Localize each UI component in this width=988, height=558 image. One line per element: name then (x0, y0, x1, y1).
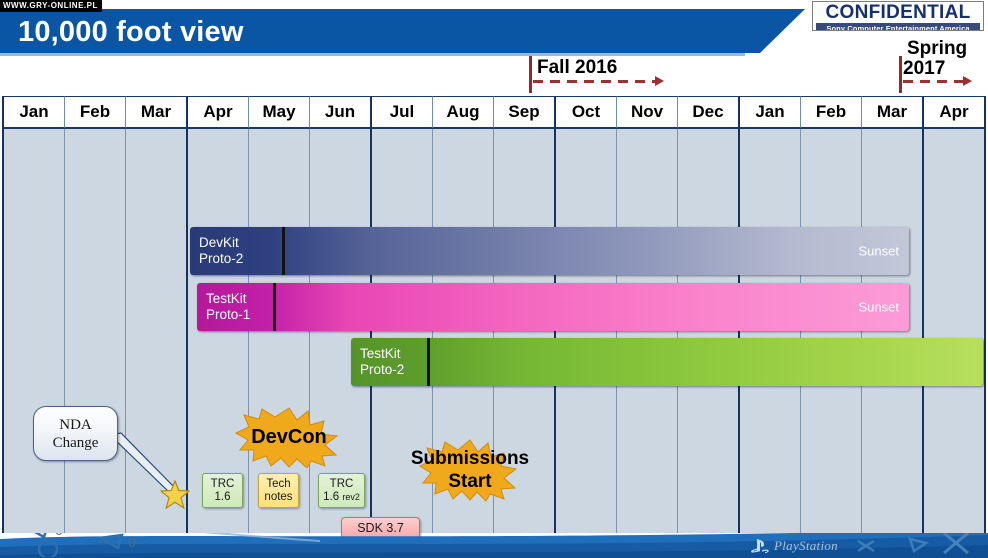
title-underline (0, 53, 745, 56)
nda-callout-line1: NDA (59, 416, 92, 434)
month-cell-nov-10: Nov (616, 96, 677, 129)
season-tick-fall (529, 56, 532, 93)
chip-trc-1-6-rev2-line1: TRC (330, 478, 354, 491)
confidential-sublabel: Sony Computer Entertainment America (816, 23, 980, 31)
grid-column-jan-0 (2, 129, 64, 533)
timeline-bar-devkit-divider (282, 227, 285, 275)
nda-change-callout[interactable]: NDA Change (33, 406, 118, 461)
devcon-label: DevCon (234, 406, 344, 468)
nda-callout-line2: Change (53, 434, 99, 452)
month-cell-dec-11: Dec (677, 96, 738, 129)
grid-column-dec-11 (677, 129, 738, 533)
timeline-bar-testkit2-label-line2: Proto-2 (360, 362, 404, 378)
timeline-bar-testkit1-divider (273, 283, 276, 331)
month-cell-feb-1: Feb (64, 96, 125, 129)
month-cell-sep-8: Sep (493, 96, 554, 129)
grid-column-feb-13 (800, 129, 861, 533)
month-cell-jan-12: Jan (738, 96, 800, 129)
season-arrow-line-spring (903, 80, 965, 83)
timeline-bar-testkit-proto-2[interactable]: TestKit Proto-2 (351, 338, 983, 386)
chip-trc-1-6-rev2-line2: 1.6 rev2 (323, 491, 360, 504)
confidential-label: CONFIDENTIAL (813, 2, 983, 22)
milestone-burst-submissions-start[interactable]: Submissions Start (418, 438, 522, 502)
nda-milestone-star-icon (160, 480, 190, 510)
chip-tech-notes[interactable]: Tech notes (258, 473, 299, 508)
month-cell-apr-3: Apr (186, 96, 248, 129)
month-cell-mar-14: Mar (861, 96, 922, 129)
svg-text:0: 0 (55, 533, 63, 538)
site-watermark: WWW.GRY-ONLINE.PL (0, 0, 102, 12)
milestone-burst-devcon[interactable]: DevCon (234, 406, 344, 468)
svg-text:0: 0 (128, 534, 136, 550)
month-cell-jun-5: Jun (309, 96, 370, 129)
month-cell-oct-9: Oct (554, 96, 616, 129)
month-cell-jan-0: Jan (2, 96, 64, 129)
timeline-bar-devkit-label: DevKit Proto-2 (190, 227, 243, 275)
confidential-stamp: CONFIDENTIAL Sony Computer Entertainment… (812, 1, 984, 31)
grid-column-oct-9 (554, 129, 616, 533)
season-arrow-head-fall (655, 76, 664, 86)
season-label-spring-year: 2017 (903, 58, 945, 79)
title-banner: 10,000 foot view (0, 9, 805, 53)
footer-decor-left: 0 0 (0, 533, 320, 557)
month-cell-jul-6: Jul (370, 96, 432, 129)
chip-trc-1-6-rev2[interactable]: TRC 1.6 rev2 (318, 473, 365, 508)
month-cell-may-4: May (248, 96, 309, 129)
month-cell-feb-13: Feb (800, 96, 861, 129)
season-label-spring: Spring (907, 38, 967, 59)
timeline-bar-devkit-proto-2[interactable]: DevKit Proto-2 Sunset (190, 227, 909, 275)
timeline-bar-testkit1-label: TestKit Proto-1 (197, 283, 250, 331)
season-arrow-line-fall (533, 80, 657, 83)
chip-trc-1-6[interactable]: TRC 1.6 (202, 473, 243, 508)
footer-wave: 0 0 (0, 533, 988, 558)
month-cell-aug-7: Aug (432, 96, 493, 129)
submissions-start-line1: Submissions (411, 447, 529, 470)
page-title: 10,000 foot view (18, 16, 244, 49)
timeline-bar-testkit2-label: TestKit Proto-2 (351, 338, 404, 386)
timeline-bar-testkit2-divider (427, 338, 430, 386)
grid-column-mar-14 (861, 129, 922, 533)
chip-trc-rev2-version: 1.6 (323, 491, 342, 503)
timeline-bar-testkit1-label-line2: Proto-1 (206, 307, 250, 323)
footer-decor-right (840, 533, 988, 558)
chip-trc-1-6-line2: 1.6 (215, 491, 231, 504)
chip-tech-notes-line2: notes (264, 491, 292, 504)
timeline-bar-devkit-end-label: Sunset (859, 244, 899, 259)
timeline-bar-testkit-proto-1[interactable]: TestKit Proto-1 Sunset (197, 283, 909, 331)
chip-tech-notes-line1: Tech (266, 478, 290, 491)
season-arrow-head-spring (963, 76, 972, 86)
playstation-logo: PlayStation (750, 537, 838, 554)
timeline-bar-testkit1-label-line1: TestKit (206, 291, 250, 307)
season-tick-spring (899, 56, 902, 93)
grid-column-nov-10 (616, 129, 677, 533)
month-cell-mar-2: Mar (125, 96, 186, 129)
timeline-bar-devkit-label-line2: Proto-2 (199, 251, 243, 267)
slide-root: WWW.GRY-ONLINE.PL 10,000 foot view CONFI… (0, 0, 988, 558)
submissions-start-label: Submissions Start (418, 438, 522, 502)
grid-column-apr-15 (922, 129, 986, 533)
timeline-bar-testkit1-end-label: Sunset (859, 300, 899, 315)
timeline-month-header: JanFebMarAprMayJunJulAugSepOctNovDecJanF… (2, 96, 986, 129)
timeline-bar-testkit2-label-line1: TestKit (360, 346, 404, 362)
grid-column-jan-12 (738, 129, 800, 533)
chip-trc-rev2-suffix: rev2 (342, 492, 360, 502)
playstation-ps-icon (750, 538, 770, 554)
timeline-bar-devkit-label-line1: DevKit (199, 235, 243, 251)
playstation-wordmark: PlayStation (774, 538, 838, 554)
submissions-start-line2: Start (448, 470, 491, 493)
month-cell-apr-15: Apr (922, 96, 986, 129)
chip-trc-1-6-line1: TRC (211, 478, 235, 491)
season-label-fall: Fall 2016 (537, 57, 617, 78)
